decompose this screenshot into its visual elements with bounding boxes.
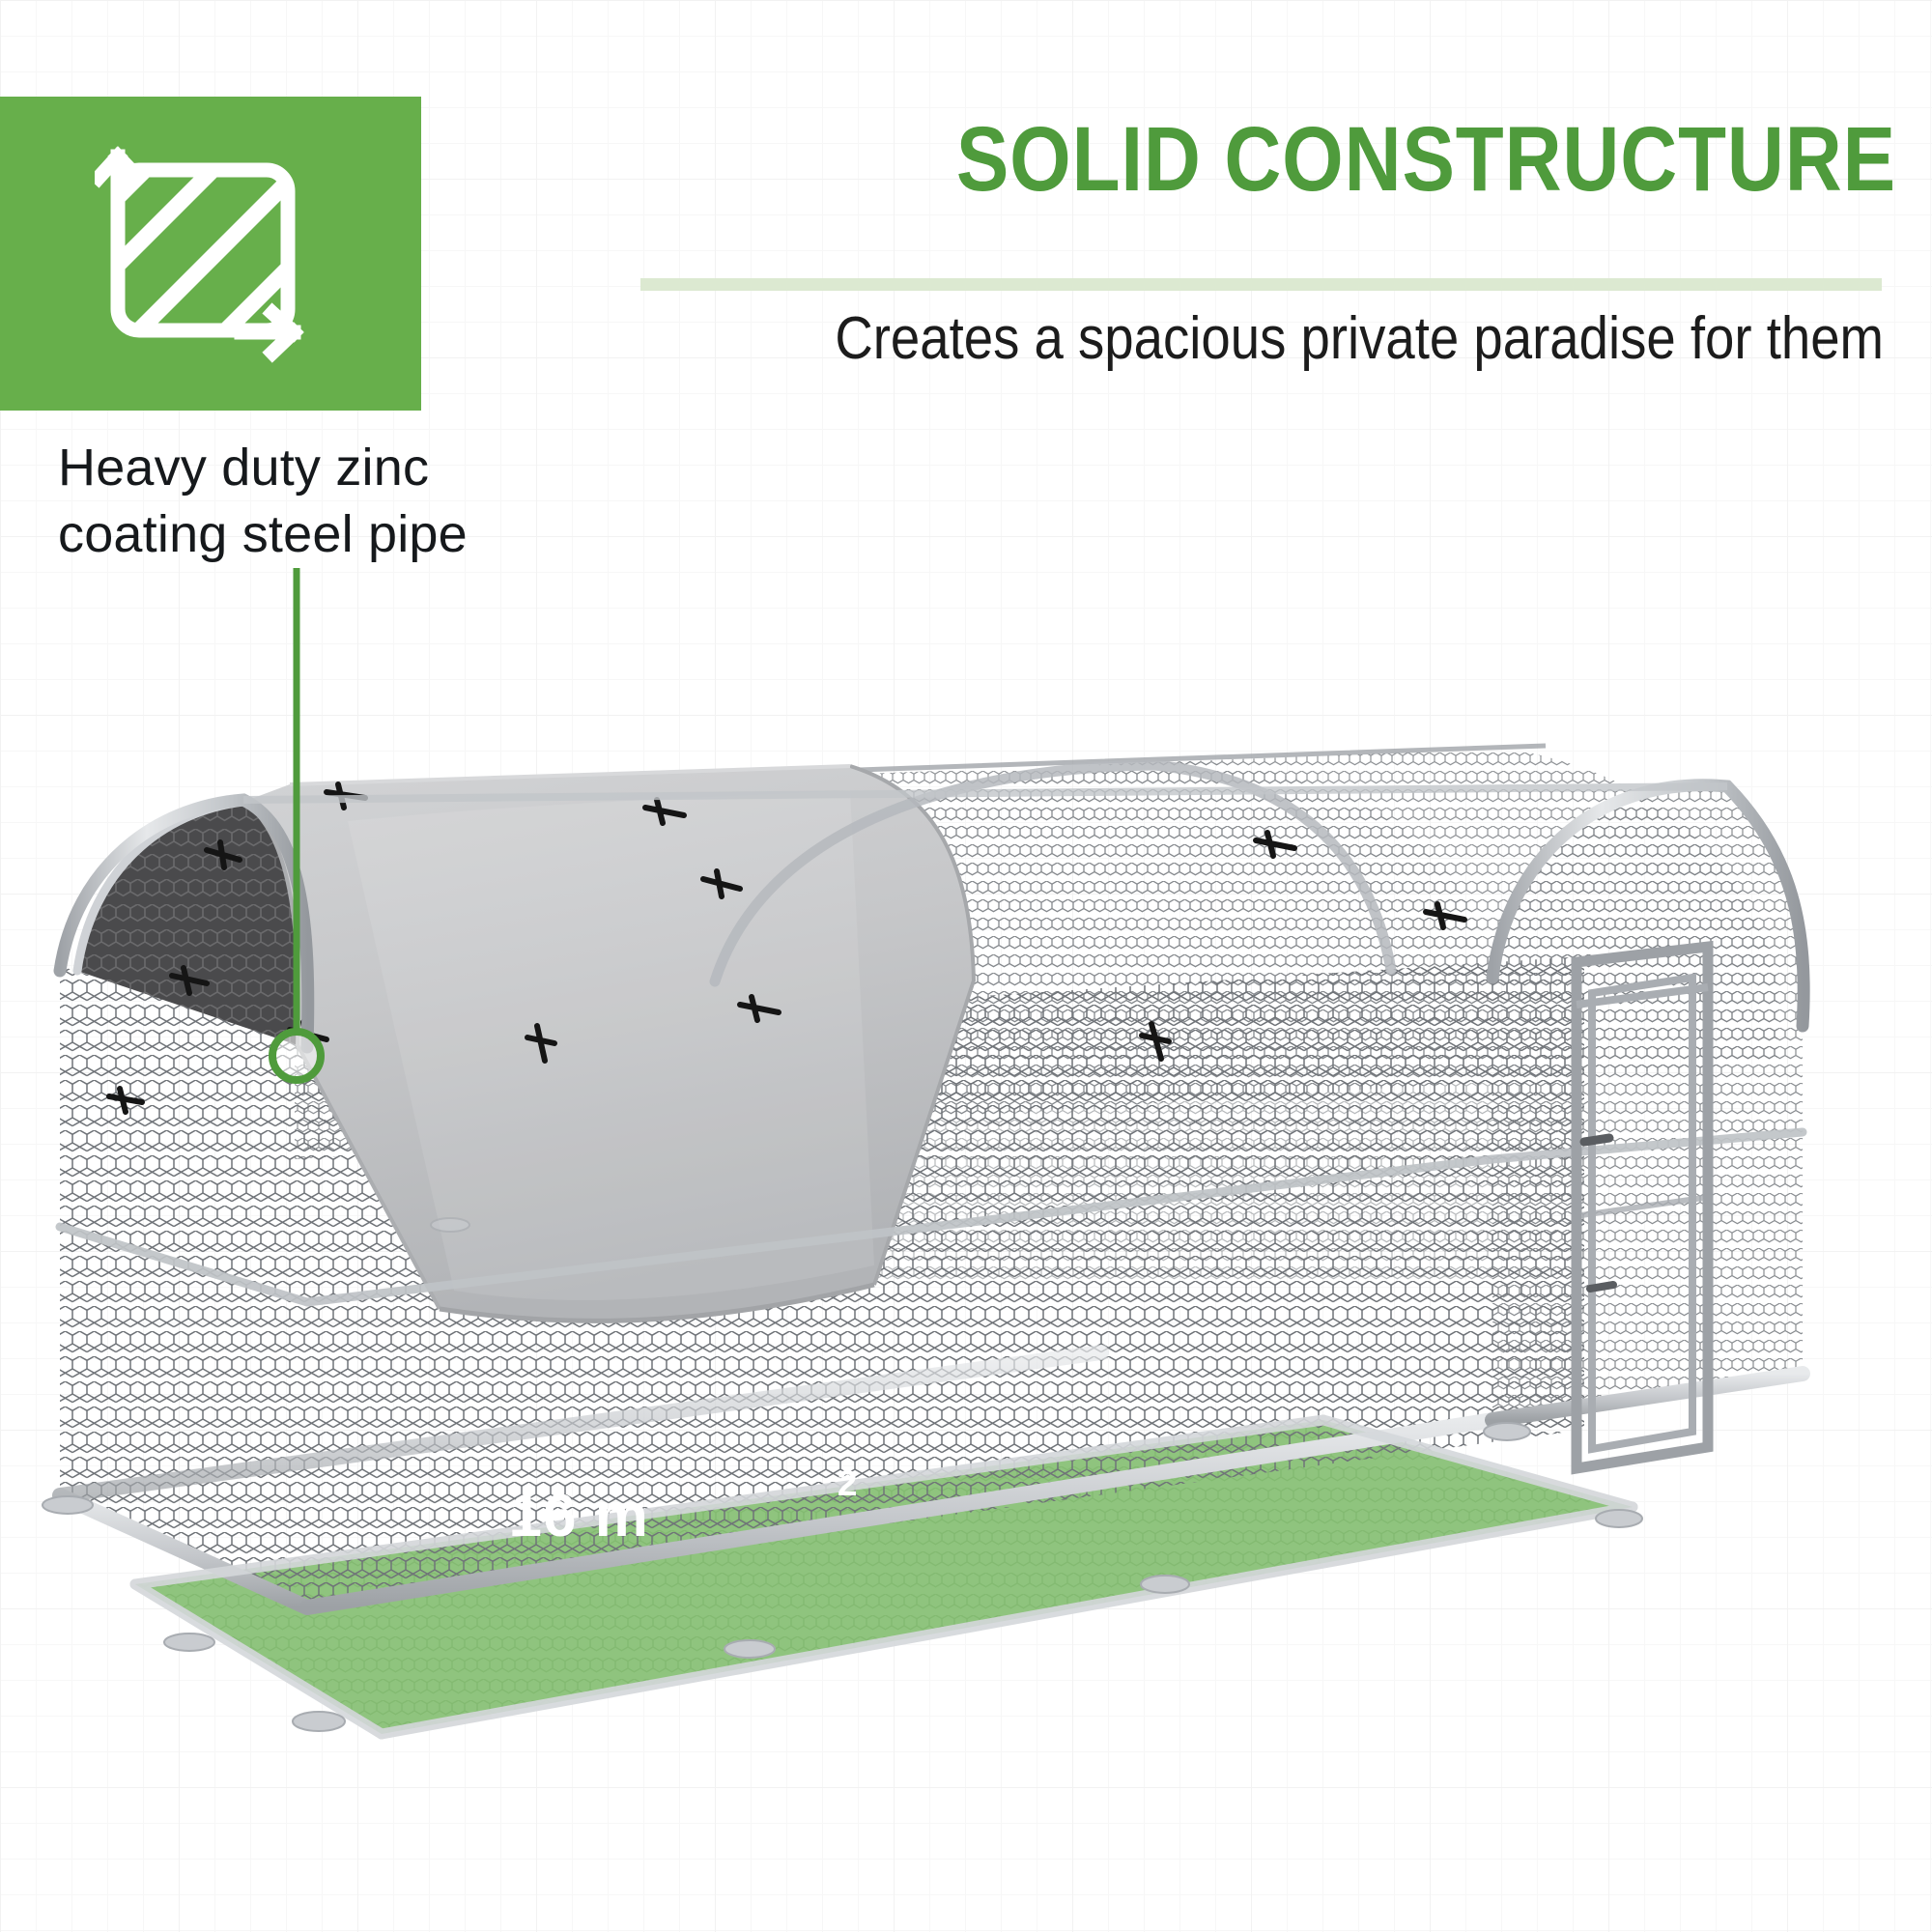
area-value: 16 m xyxy=(509,1482,649,1550)
area-expand-icon xyxy=(95,143,327,365)
area-badge: 16 m2 xyxy=(0,1482,1932,1550)
callout-block: Heavy duty zinc coating steel pipe xyxy=(58,435,468,568)
area-exponent: 2 xyxy=(838,1463,859,1503)
callout-label: Heavy duty zinc coating steel pipe xyxy=(58,435,468,568)
area-badge-text: 16 m2 xyxy=(697,1482,859,1550)
page-title: SOLID CONSTRUCTURE xyxy=(816,114,1896,206)
title-underline-rule xyxy=(640,278,1882,291)
page-subtitle: Creates a spacious private paradise for … xyxy=(651,307,1884,370)
header: SOLID CONSTRUCTURE Creates a spacious pr… xyxy=(0,0,1932,415)
title-block: SOLID CONSTRUCTURE xyxy=(640,114,1896,206)
feature-icon-tile xyxy=(0,97,421,411)
